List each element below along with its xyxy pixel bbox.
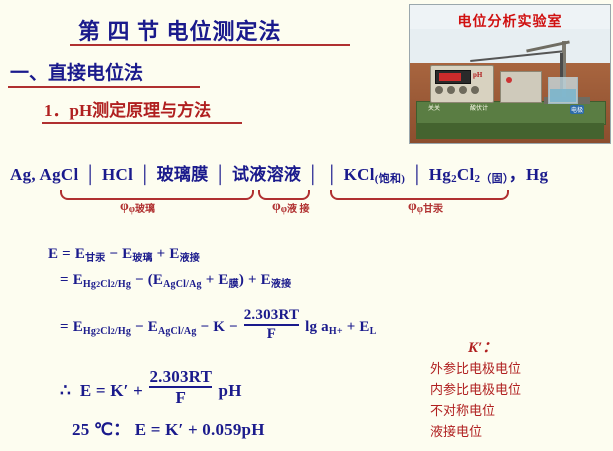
note-title: K′： — [468, 336, 497, 357]
cell-part-kcl: KCl — [344, 165, 375, 184]
photo-label-switch: 关关 — [428, 103, 440, 112]
cell-divider: │ — [410, 165, 424, 185]
photo-meter-display — [435, 70, 471, 84]
photo-indicator-light — [506, 77, 512, 83]
fraction-denominator: F — [244, 324, 299, 343]
fraction-numerator: 2.303RT — [244, 308, 299, 324]
note-line-3: 不对称电位 — [430, 400, 495, 419]
note-line-2: 内参比电极电位 — [430, 379, 521, 398]
section1-underline — [8, 86, 200, 88]
phi-label-junction: φφ液 接 — [272, 199, 310, 215]
title-underline — [70, 44, 350, 46]
photo-label-electrode: 电极 — [570, 105, 584, 114]
cell-part-kcl-saturated: (饱和) — [375, 173, 406, 185]
lab-photo: 电位分析实验室 pH 关关 酸伏计 电极 — [409, 4, 611, 144]
cell-divider: │ — [83, 165, 97, 185]
cell-part-calomel-solid: （固） — [480, 173, 508, 185]
fraction-nernst-1: 2.303RT F — [244, 308, 299, 343]
photo-meter-knobs — [435, 86, 489, 98]
note-line-1: 外参比电极电位 — [430, 358, 521, 377]
cell-divider: │ — [138, 165, 152, 185]
photo-secondary-instrument — [500, 71, 542, 103]
cell-divider: │ — [213, 165, 227, 185]
section2-underline — [42, 122, 242, 124]
fraction-numerator: 2.303RT — [149, 368, 212, 386]
equation-line-3: = EHg2Cl2/Hg − EAgCl/Ag − K − 2.303RT F … — [60, 308, 377, 343]
photo-meter-ph-label: pH — [473, 71, 482, 79]
cell-divider: │ — [325, 165, 339, 185]
fraction-denominator: F — [149, 386, 212, 408]
cell-part-glass-membrane: 玻璃膜 — [157, 165, 209, 184]
cell-divider: │ — [306, 165, 320, 185]
cell-part-hg: Hg — [526, 165, 548, 184]
equation-line-5: 25 ℃： E = K′ + 0.059pH — [72, 415, 265, 440]
photo-label-meter: 酸伏计 — [470, 103, 488, 112]
brace-glass — [60, 190, 254, 200]
note-line-4: 液接电位 — [430, 421, 482, 440]
cell-part-ag-agcl: Ag, AgCl — [10, 165, 79, 184]
cell-part-sample-solution: 试液溶液 — [232, 165, 301, 184]
equation-line-1: E = E甘汞 − E玻璃 + E液接 — [48, 246, 200, 264]
phi-sub-glass: φ玻璃 — [129, 204, 155, 215]
phi-sub-junction: φ液 接 — [281, 204, 310, 215]
cell-part-hcl: HCl — [102, 165, 133, 184]
equation-line-4: ∴ E = K′ + 2.303RT F pH — [60, 368, 242, 407]
photo-bench-body — [416, 123, 604, 139]
phi-label-glass: φφ玻璃 — [120, 199, 155, 215]
photo-caption: 电位分析实验室 — [410, 11, 610, 31]
section-heading-level2: 1．pH测定原理与方法 — [44, 96, 211, 121]
electrochemical-cell-notation: Ag, AgCl │ HCl │ 玻璃膜 │ 试液溶液 │ │ KCl(饱和) … — [10, 160, 548, 186]
slide-page: 第 四 节 电位测定法 一、直接电位法 1．pH测定原理与方法 电位分析实验室 … — [0, 0, 613, 451]
equation-line-2: = EHg2Cl2/Hg − (EAgCl/Ag + E膜) + E液接 — [60, 272, 291, 290]
photo-beaker-liquid — [550, 89, 576, 102]
cell-part-calomel: Hg2Cl2 — [429, 165, 481, 184]
section-heading-level1: 一、直接电位法 — [10, 58, 143, 85]
fraction-nernst-2: 2.303RT F — [149, 368, 212, 407]
photo-wall — [410, 29, 610, 65]
photo-beaker — [548, 77, 578, 104]
page-title: 第 四 节 电位测定法 — [78, 14, 282, 46]
phi-sub-calomel: φ甘汞 — [417, 204, 443, 215]
phi-label-calomel: φφ甘汞 — [408, 199, 443, 215]
photo-ph-meter: pH — [430, 65, 494, 103]
